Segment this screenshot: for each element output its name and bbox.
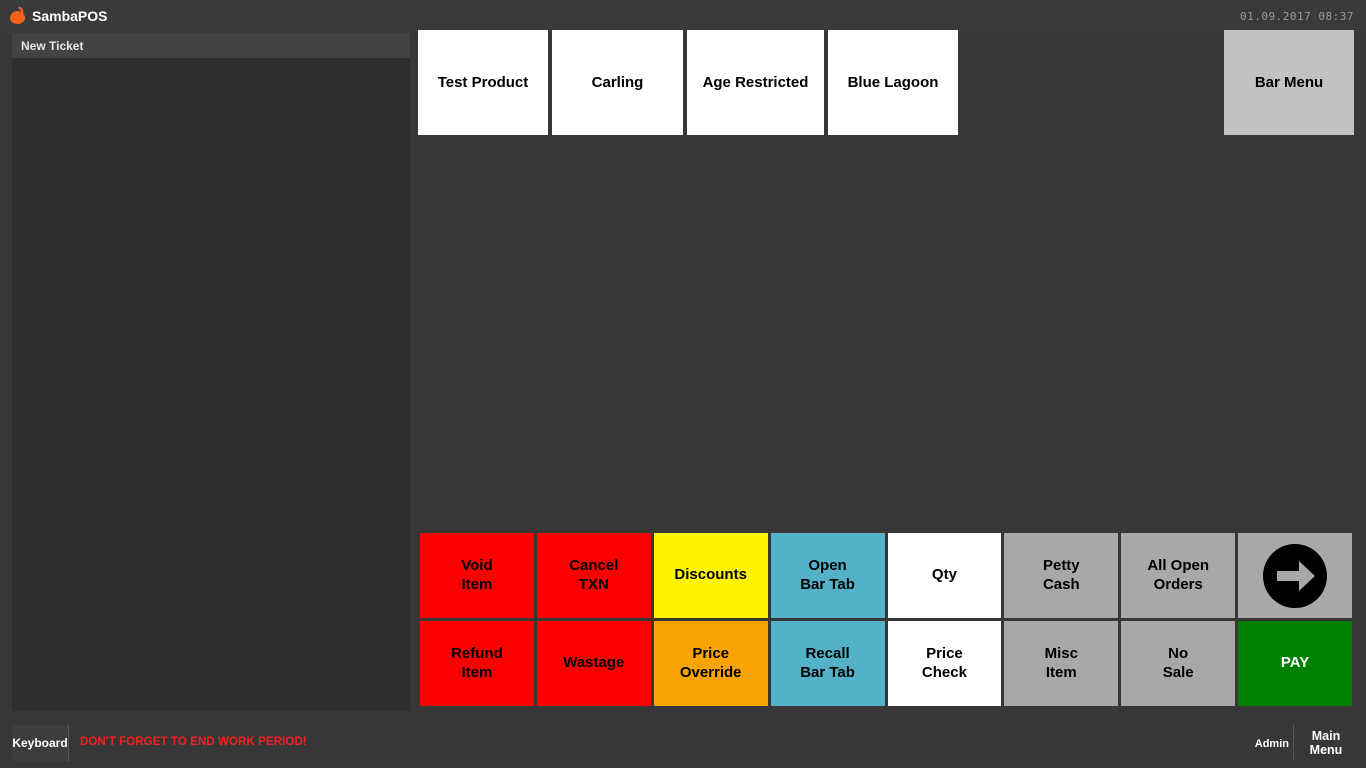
ticket-header: New Ticket — [12, 33, 410, 58]
bar-menu-button[interactable]: Bar Menu — [1224, 30, 1354, 135]
ticket-panel[interactable]: New Ticket — [12, 33, 410, 711]
wastage-button[interactable]: Wastage — [537, 621, 651, 706]
price-check-button[interactable]: Price Check — [888, 621, 1002, 706]
app-brand: SambaPOS — [10, 7, 107, 24]
flame-logo-icon — [10, 7, 26, 24]
product-button-carling[interactable]: Carling — [552, 30, 683, 135]
status-bar: Keyboard DON'T FORGET TO END WORK PERIOD… — [0, 716, 1366, 768]
product-button-age-restricted[interactable]: Age Restricted — [687, 30, 824, 135]
recall-bar-tab-button[interactable]: Recall Bar Tab — [771, 621, 885, 706]
next-page-button[interactable] — [1238, 533, 1352, 618]
work-period-warning: DON'T FORGET TO END WORK PERIOD! — [80, 736, 307, 748]
all-open-orders-button[interactable]: All Open Orders — [1121, 533, 1235, 618]
misc-item-button[interactable]: Misc Item — [1004, 621, 1118, 706]
product-button-row: Test Product Carling Age Restricted Blue… — [418, 30, 958, 135]
title-bar: SambaPOS 01.09.2017 08:37 — [0, 0, 1366, 33]
product-button-blue-lagoon[interactable]: Blue Lagoon — [828, 30, 958, 135]
ticket-order-list[interactable] — [12, 58, 410, 711]
void-item-button[interactable]: Void Item — [420, 533, 534, 618]
qty-button[interactable]: Qty — [888, 533, 1002, 618]
product-button-test-product[interactable]: Test Product — [418, 30, 548, 135]
petty-cash-button[interactable]: Petty Cash — [1004, 533, 1118, 618]
action-button-grid: Void Item Cancel TXN Discounts Open Bar … — [420, 533, 1352, 706]
main-menu-button[interactable]: Main Menu — [1293, 725, 1358, 761]
cancel-txn-button[interactable]: Cancel TXN — [537, 533, 651, 618]
current-user-label: Admin — [1255, 738, 1289, 750]
keyboard-button[interactable]: Keyboard — [12, 725, 69, 761]
price-override-button[interactable]: Price Override — [654, 621, 768, 706]
app-title: SambaPOS — [32, 8, 107, 24]
ticket-title: New Ticket — [21, 39, 83, 53]
no-sale-button[interactable]: No Sale — [1121, 621, 1235, 706]
datetime-display: 01.09.2017 08:37 — [1240, 10, 1354, 23]
pos-application-window: SambaPOS 01.09.2017 08:37 New Ticket Tes… — [0, 0, 1366, 768]
refund-item-button[interactable]: Refund Item — [420, 621, 534, 706]
arrow-right-circle-icon — [1261, 542, 1329, 610]
open-bar-tab-button[interactable]: Open Bar Tab — [771, 533, 885, 618]
pay-button[interactable]: PAY — [1238, 621, 1352, 706]
discounts-button[interactable]: Discounts — [654, 533, 768, 618]
